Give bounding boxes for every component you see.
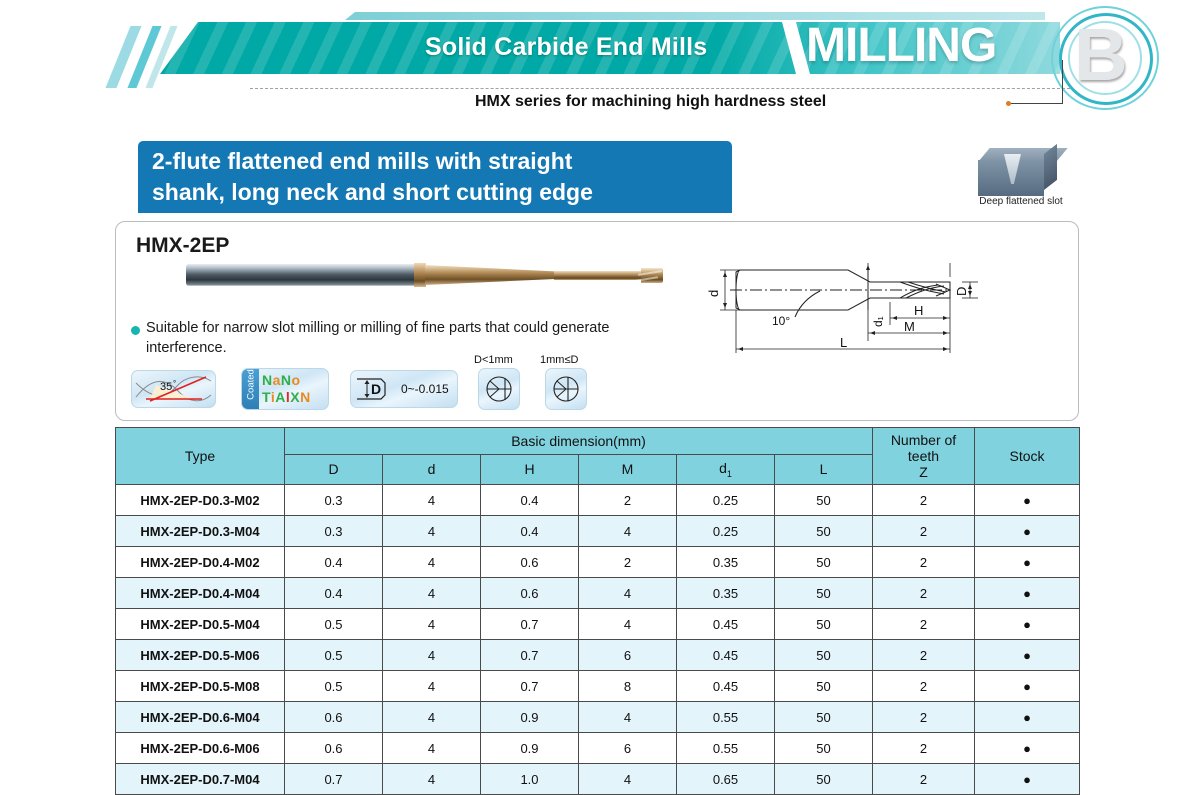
cell-type: HMX-2EP-D0.6-M06 bbox=[116, 733, 285, 764]
cell-d1: 0.55 bbox=[677, 733, 775, 764]
label-D: D bbox=[954, 287, 969, 296]
helix-angle-badge: 35 ° bbox=[131, 370, 216, 408]
end-view-1-label: D<1mm bbox=[474, 354, 513, 366]
cell-Z: 2 bbox=[873, 578, 975, 609]
cell-H: 0.4 bbox=[481, 516, 579, 547]
cell-d1: 0.65 bbox=[677, 764, 775, 795]
cell-H: 0.7 bbox=[481, 609, 579, 640]
cell-M: 4 bbox=[579, 609, 677, 640]
product-title-box: 2-flute flattened end mills with straigh… bbox=[138, 141, 732, 213]
cell-M: 6 bbox=[579, 733, 677, 764]
header-basic-dimension: Basic dimension(mm) bbox=[285, 428, 873, 455]
cell-d: 4 bbox=[383, 547, 481, 578]
label-d: d bbox=[706, 290, 721, 297]
cell-stock: ● bbox=[975, 764, 1080, 795]
feature-bullet-text: Suitable for narrow slot milling or mill… bbox=[146, 318, 666, 358]
cell-M: 4 bbox=[579, 516, 677, 547]
end-view-diagram-2 bbox=[546, 369, 586, 409]
cell-d: 4 bbox=[383, 764, 481, 795]
cell-L: 50 bbox=[775, 640, 873, 671]
header-dim-D: D bbox=[285, 454, 383, 484]
cell-type: HMX-2EP-D0.5-M04 bbox=[116, 609, 285, 640]
cell-Z: 2 bbox=[873, 733, 975, 764]
label-L: L bbox=[840, 335, 847, 350]
table-row: HMX-2EP-D0.5-M040.540.740.45502● bbox=[116, 609, 1080, 640]
cell-d: 4 bbox=[383, 485, 481, 516]
header-dashed-divider bbox=[250, 88, 1070, 89]
end-view-badge-large-diameter bbox=[545, 368, 587, 410]
slot-block-side-face bbox=[1044, 144, 1057, 190]
label-angle: 10° bbox=[772, 314, 790, 328]
header-title: Solid Carbide End Mills bbox=[425, 33, 707, 62]
cell-Z: 2 bbox=[873, 547, 975, 578]
cell-Z: 2 bbox=[873, 640, 975, 671]
cell-Z: 2 bbox=[873, 764, 975, 795]
cell-L: 50 bbox=[775, 609, 873, 640]
cell-M: 4 bbox=[579, 578, 677, 609]
cell-D: 0.7 bbox=[285, 764, 383, 795]
cell-Z: 2 bbox=[873, 516, 975, 547]
cell-d: 4 bbox=[383, 671, 481, 702]
cell-L: 50 bbox=[775, 516, 873, 547]
cell-H: 0.6 bbox=[481, 547, 579, 578]
header-dim-d: d bbox=[383, 454, 481, 484]
label-H: H bbox=[914, 303, 923, 318]
cell-H: 0.4 bbox=[481, 485, 579, 516]
cell-L: 50 bbox=[775, 578, 873, 609]
cell-D: 0.4 bbox=[285, 578, 383, 609]
cell-d1: 0.45 bbox=[677, 640, 775, 671]
page-header: Solid Carbide End Mills MILLING B HMX se… bbox=[0, 0, 1187, 120]
coating-badge: Coated NaNo TiAlXN bbox=[241, 368, 329, 410]
svg-text:D: D bbox=[371, 381, 381, 397]
cell-d1: 0.35 bbox=[677, 578, 775, 609]
cell-type: HMX-2EP-D0.3-M02 bbox=[116, 485, 285, 516]
header-dim-M: M bbox=[579, 454, 677, 484]
cell-d1: 0.45 bbox=[677, 671, 775, 702]
header-dim-H: H bbox=[481, 454, 579, 484]
cell-D: 0.5 bbox=[285, 671, 383, 702]
table-row: HMX-2EP-D0.4-M040.440.640.35502● bbox=[116, 578, 1080, 609]
cell-D: 0.4 bbox=[285, 547, 383, 578]
cell-D: 0.3 bbox=[285, 516, 383, 547]
cell-M: 2 bbox=[579, 547, 677, 578]
teeth-line1: Number of bbox=[891, 432, 956, 448]
header-stock: Stock bbox=[975, 428, 1080, 485]
cell-Z: 2 bbox=[873, 671, 975, 702]
cell-d: 4 bbox=[383, 609, 481, 640]
coating-line1: NaNo bbox=[262, 372, 311, 389]
label-d1: d₁ bbox=[871, 316, 885, 327]
subtitle-leader-line bbox=[1011, 103, 1063, 104]
cell-H: 0.9 bbox=[481, 733, 579, 764]
cell-d: 4 bbox=[383, 640, 481, 671]
specification-table: Type Basic dimension(mm) Number of teeth… bbox=[115, 427, 1080, 795]
cell-M: 8 bbox=[579, 671, 677, 702]
end-view-badge-small-diameter bbox=[478, 368, 520, 410]
cell-Z: 2 bbox=[873, 609, 975, 640]
cell-D: 0.6 bbox=[285, 702, 383, 733]
cell-L: 50 bbox=[775, 702, 873, 733]
cell-stock: ● bbox=[975, 609, 1080, 640]
cell-d: 4 bbox=[383, 516, 481, 547]
cell-d1: 0.55 bbox=[677, 702, 775, 733]
cell-type: HMX-2EP-D0.6-M04 bbox=[116, 702, 285, 733]
cell-L: 50 bbox=[775, 547, 873, 578]
tool-shank bbox=[186, 264, 416, 286]
cell-stock: ● bbox=[975, 516, 1080, 547]
cell-stock: ● bbox=[975, 547, 1080, 578]
cell-stock: ● bbox=[975, 578, 1080, 609]
product-code: HMX-2EP bbox=[136, 234, 229, 258]
header-subtitle: HMX series for machining high hardness s… bbox=[475, 93, 826, 111]
cell-M: 6 bbox=[579, 640, 677, 671]
tool-dimension-drawing: d d₁ D H M L 10° bbox=[700, 255, 1000, 360]
cell-stock: ● bbox=[975, 671, 1080, 702]
technical-drawing: d d₁ D H M L 10° bbox=[700, 255, 1000, 360]
header-type: Type bbox=[116, 428, 285, 485]
tolerance-value: 0~-0.015 bbox=[401, 382, 449, 396]
teeth-line2: teeth bbox=[908, 448, 939, 464]
cell-Z: 2 bbox=[873, 702, 975, 733]
svg-text:°: ° bbox=[173, 379, 176, 388]
table-row: HMX-2EP-D0.3-M040.340.440.25502● bbox=[116, 516, 1080, 547]
cell-H: 0.7 bbox=[481, 640, 579, 671]
tool-photograph bbox=[186, 258, 656, 292]
cell-Z: 2 bbox=[873, 485, 975, 516]
cell-D: 0.3 bbox=[285, 485, 383, 516]
tool-collar bbox=[414, 263, 426, 287]
cell-d1: 0.25 bbox=[677, 516, 775, 547]
teeth-line3: Z bbox=[919, 464, 928, 480]
cell-L: 50 bbox=[775, 764, 873, 795]
table-body: HMX-2EP-D0.3-M020.340.420.25502●HMX-2EP-… bbox=[116, 485, 1080, 795]
table-row: HMX-2EP-D0.5-M080.540.780.45502● bbox=[116, 671, 1080, 702]
end-view-diagram-1 bbox=[479, 369, 519, 409]
cell-stock: ● bbox=[975, 485, 1080, 516]
section-badge: B bbox=[1045, 2, 1165, 110]
cell-type: HMX-2EP-D0.5-M08 bbox=[116, 671, 285, 702]
svg-text:35: 35 bbox=[160, 381, 172, 393]
cell-type: HMX-2EP-D0.4-M04 bbox=[116, 578, 285, 609]
cell-H: 0.9 bbox=[481, 702, 579, 733]
header-brand-milling: MILLING bbox=[806, 18, 996, 73]
cell-L: 50 bbox=[775, 485, 873, 516]
product-title-line1: 2-flute flattened end mills with straigh… bbox=[152, 146, 718, 177]
table-row: HMX-2EP-D0.4-M020.440.620.35502● bbox=[116, 547, 1080, 578]
cell-type: HMX-2EP-D0.3-M04 bbox=[116, 516, 285, 547]
slot-block-shape bbox=[978, 148, 1056, 194]
header-dim-L: L bbox=[775, 454, 873, 484]
table-row: HMX-2EP-D0.3-M020.340.420.25502● bbox=[116, 485, 1080, 516]
cell-M: 4 bbox=[579, 702, 677, 733]
cell-D: 0.5 bbox=[285, 609, 383, 640]
subtitle-leader-line-vertical bbox=[1062, 60, 1063, 104]
cell-D: 0.5 bbox=[285, 640, 383, 671]
cell-d: 4 bbox=[383, 578, 481, 609]
cell-M: 2 bbox=[579, 485, 677, 516]
table-row: HMX-2EP-D0.6-M040.640.940.55502● bbox=[116, 702, 1080, 733]
cell-L: 50 bbox=[775, 671, 873, 702]
coating-name: NaNo TiAlXN bbox=[262, 372, 311, 406]
tolerance-diagram: D bbox=[351, 371, 401, 407]
cell-M: 4 bbox=[579, 764, 677, 795]
cell-stock: ● bbox=[975, 640, 1080, 671]
feature-bullet-dot bbox=[131, 326, 140, 335]
cell-H: 0.6 bbox=[481, 578, 579, 609]
cell-type: HMX-2EP-D0.5-M06 bbox=[116, 640, 285, 671]
coated-strip: Coated bbox=[242, 369, 259, 409]
cell-d1: 0.35 bbox=[677, 547, 775, 578]
table-row: HMX-2EP-D0.5-M060.540.760.45502● bbox=[116, 640, 1080, 671]
table-header-row-1: Type Basic dimension(mm) Number of teeth… bbox=[116, 428, 1080, 455]
tool-taper bbox=[425, 265, 555, 285]
coating-line2: TiAlXN bbox=[262, 389, 311, 406]
coated-label: Coated bbox=[246, 368, 257, 404]
cell-d1: 0.45 bbox=[677, 609, 775, 640]
helix-angle-diagram: 35 ° bbox=[132, 371, 215, 407]
label-M: M bbox=[904, 319, 915, 334]
table-row: HMX-2EP-D0.6-M060.640.960.55502● bbox=[116, 733, 1080, 764]
header-number-of-teeth: Number of teeth Z bbox=[873, 428, 975, 485]
cell-type: HMX-2EP-D0.4-M02 bbox=[116, 547, 285, 578]
cell-H: 1.0 bbox=[481, 764, 579, 795]
slot-icon-label: Deep flattened slot bbox=[968, 196, 1074, 207]
cell-d: 4 bbox=[383, 702, 481, 733]
cell-stock: ● bbox=[975, 733, 1080, 764]
cell-stock: ● bbox=[975, 702, 1080, 733]
cell-d: 4 bbox=[383, 733, 481, 764]
cell-L: 50 bbox=[775, 733, 873, 764]
cell-d1: 0.25 bbox=[677, 485, 775, 516]
table-row: HMX-2EP-D0.7-M040.741.040.65502● bbox=[116, 764, 1080, 795]
cell-H: 0.7 bbox=[481, 671, 579, 702]
cell-D: 0.6 bbox=[285, 733, 383, 764]
header-dim-d1: d1 bbox=[677, 454, 775, 484]
deep-flattened-slot-icon: Deep flattened slot bbox=[968, 140, 1074, 212]
end-view-2-label: 1mm≤D bbox=[540, 354, 578, 366]
cell-type: HMX-2EP-D0.7-M04 bbox=[116, 764, 285, 795]
product-title-line2: shank, long neck and short cutting edge bbox=[152, 177, 718, 208]
